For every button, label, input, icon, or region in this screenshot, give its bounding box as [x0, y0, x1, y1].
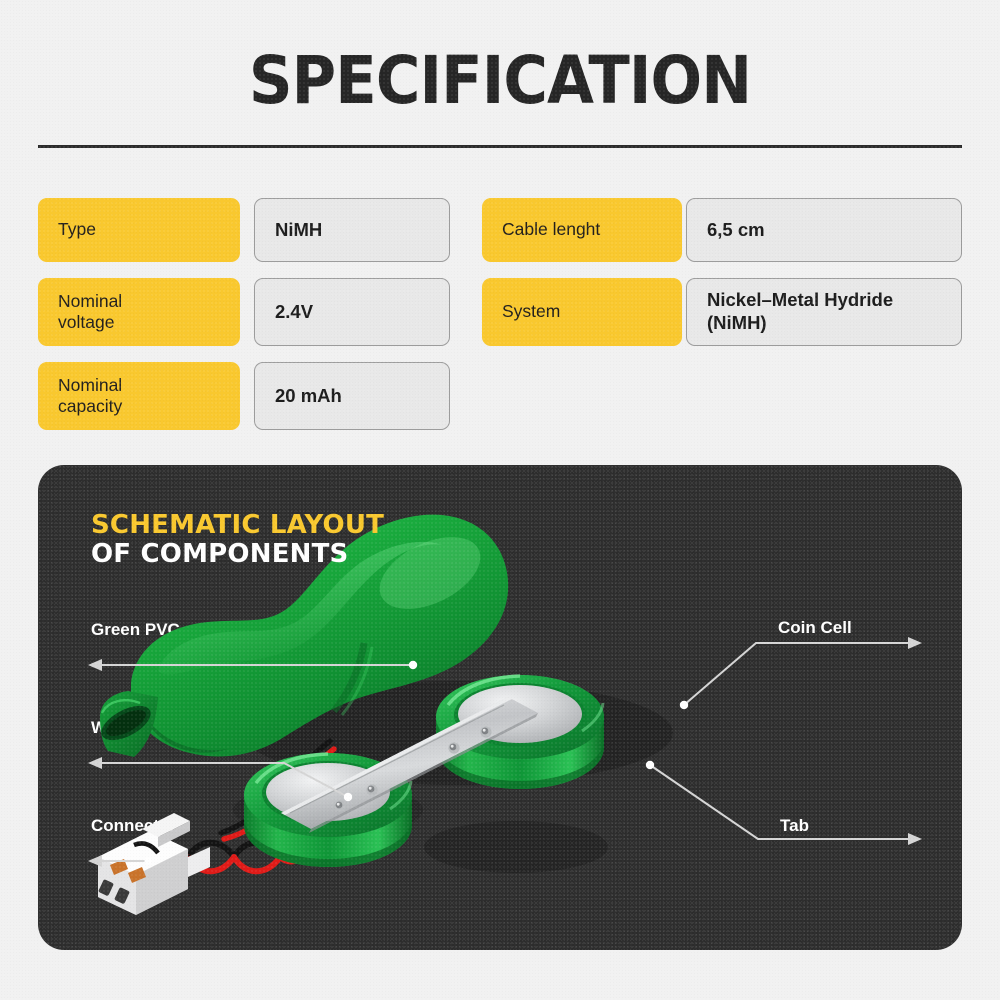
anchor-dot-tab	[646, 761, 654, 769]
spec-row-type: Type NiMH	[38, 198, 450, 262]
anchor-dot-coin-cell	[680, 701, 688, 709]
spec-row-nominal-voltage: Nominalvoltage 2.4V	[38, 278, 450, 346]
spec-value-system: Nickel–Metal Hydride (NiMH)	[686, 278, 962, 346]
arrowhead-coin-cell	[908, 637, 922, 649]
page-header: SPECIFICATION	[0, 48, 1000, 114]
callout-lines	[38, 465, 962, 950]
spec-row-system: System Nickel–Metal Hydride (NiMH)	[482, 278, 962, 346]
title-divider	[38, 145, 962, 148]
arrowhead-wires	[88, 757, 102, 769]
page-title: SPECIFICATION	[40, 48, 960, 114]
arrowhead-green-pvc	[88, 659, 102, 671]
arrowhead-connector	[88, 855, 102, 867]
spec-value-nominal-voltage: 2.4V	[254, 278, 450, 346]
spec-row-nominal-capacity: Nominalcapacity 20 mAh	[38, 362, 450, 430]
leader-line-tab	[650, 765, 912, 839]
spec-column-left: Type NiMH Nominalvoltage 2.4V Nominalcap…	[38, 198, 450, 430]
anchor-dot-connector	[144, 857, 151, 864]
schematic-panel: SCHEMATIC LAYOUT OF COMPONENTS	[38, 465, 962, 950]
anchor-dot-green-pvc	[409, 661, 417, 669]
spec-label-system: System	[482, 278, 682, 346]
leader-line-coin-cell	[684, 643, 912, 705]
spec-label-type: Type	[38, 198, 240, 262]
anchor-dot-wires	[344, 793, 352, 801]
spec-row-cable-length: Cable lenght 6,5 cm	[482, 198, 962, 262]
spec-label-cable-length: Cable lenght	[482, 198, 682, 262]
spec-value-cable-length: 6,5 cm	[686, 198, 962, 262]
spec-label-nominal-voltage: Nominalvoltage	[38, 278, 240, 346]
spec-value-nominal-capacity: 20 mAh	[254, 362, 450, 430]
arrowhead-tab	[908, 833, 922, 845]
spec-value-type: NiMH	[254, 198, 450, 262]
leader-line-wires	[98, 763, 348, 797]
spec-label-nominal-capacity: Nominalcapacity	[38, 362, 240, 430]
spec-column-right: Cable lenght 6,5 cm System Nickel–Metal …	[482, 198, 962, 346]
